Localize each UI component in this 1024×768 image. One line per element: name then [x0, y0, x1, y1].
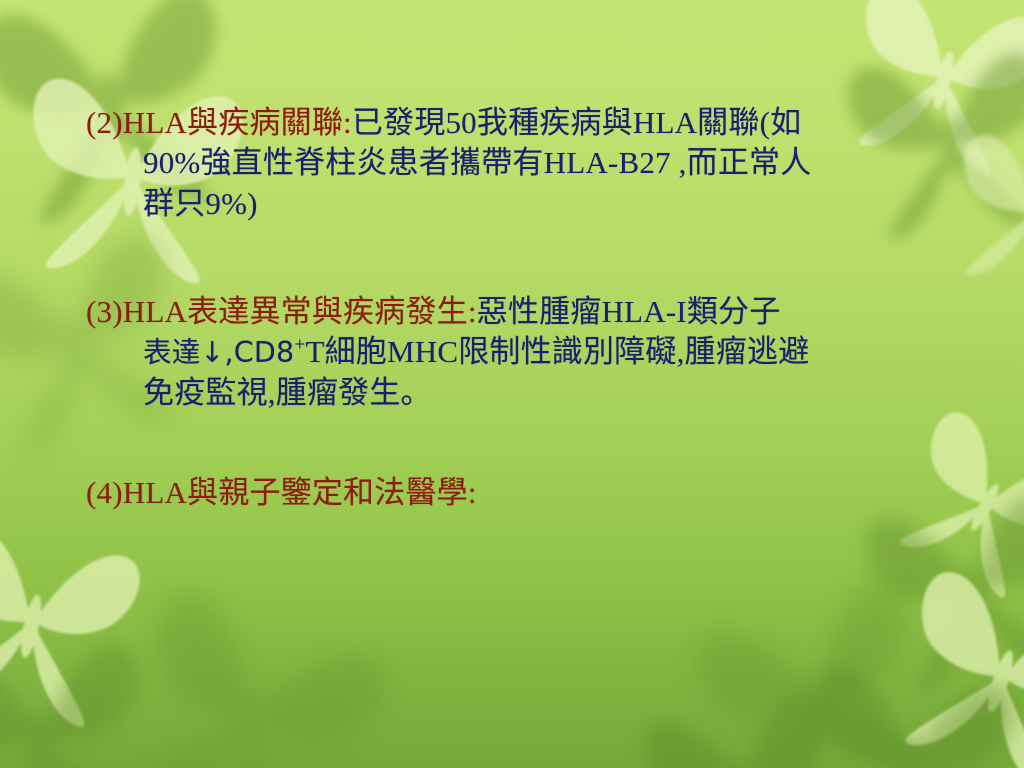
text-line: (3)HLA表達異常與疾病發生:惡性腫瘤HLA-I類分子: [86, 292, 986, 332]
presentation-slide: (2)HLA與疾病關聯:已發現50我種疾病與HLA關聯(如90%強直性脊柱炎患者…: [0, 0, 1024, 768]
body-text: 90%強直性脊柱炎患者攜帶有HLA-B27 ,而正常人: [143, 145, 811, 180]
text-line: 免疫監視,腫瘤發生。: [86, 373, 986, 413]
text-line: (2)HLA與疾病關聯:已發現50我種疾病與HLA關聯(如: [86, 103, 986, 143]
body-text: 群只9%): [143, 186, 258, 221]
text-line: (4)HLA與親子鑒定和法醫學:: [86, 473, 986, 513]
body-text: 惡性腫瘤HLA-I類分子: [477, 294, 781, 329]
text-line: 群只9%): [86, 184, 986, 224]
bullet-paragraph-2: (2)HLA與疾病關聯:已發現50我種疾病與HLA關聯(如90%強直性脊柱炎患者…: [86, 103, 986, 224]
body-text: +: [294, 335, 305, 356]
body-text: 已發現50我種疾病與HLA關聯(如: [352, 105, 801, 140]
heading-text: (3)HLA表達異常與疾病發生:: [86, 294, 477, 329]
heading-text: (2)HLA與疾病關聯:: [86, 105, 352, 140]
body-text: 免疫監視,腫瘤發生。: [143, 375, 432, 410]
bullet-paragraph-4: (4)HLA與親子鑒定和法醫學:: [86, 473, 986, 513]
body-text: 表達↓,CD8: [143, 336, 294, 369]
bullet-paragraph-3: (3)HLA表達異常與疾病發生:惡性腫瘤HLA-I類分子表達↓,CD8+T細胞M…: [86, 292, 986, 413]
text-line: 90%強直性脊柱炎患者攜帶有HLA-B27 ,而正常人: [86, 143, 986, 183]
body-text: T細胞MHC限制性識別障礙,腫瘤逃避: [305, 334, 809, 369]
heading-text: (4)HLA與親子鑒定和法醫學:: [86, 475, 477, 510]
slide-text-content: (2)HLA與疾病關聯:已發現50我種疾病與HLA關聯(如90%強直性脊柱炎患者…: [0, 0, 1024, 768]
text-line: 表達↓,CD8+T細胞MHC限制性識別障礙,腫瘤逃避: [86, 332, 986, 372]
